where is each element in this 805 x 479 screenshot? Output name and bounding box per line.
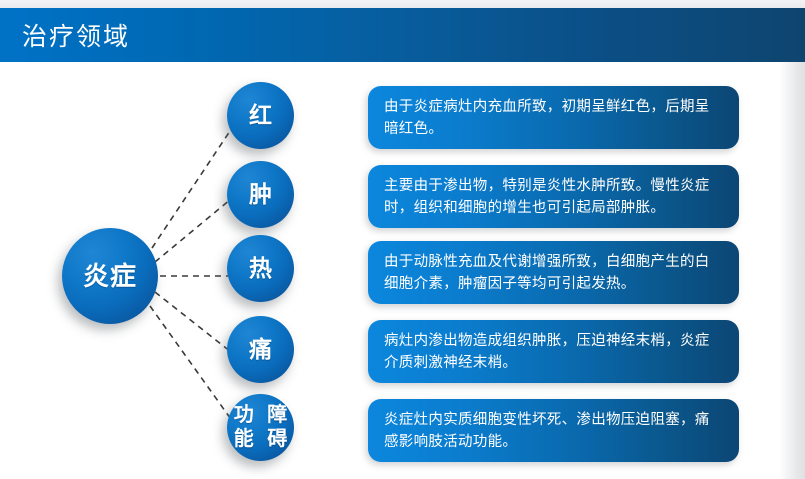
spoke-node-pain[interactable]: 痛 xyxy=(227,316,294,383)
spoke-node-red[interactable]: 红 xyxy=(227,82,294,149)
spoke-node-swelling[interactable]: 肿 xyxy=(227,161,294,228)
description-box-pain: 病灶内渗出物造成组织肿胀，压迫神经末梢，炎症介质刺激神经末梢。 xyxy=(368,320,739,383)
description-box-heat: 由于动脉性充血及代谢增强所致，白细胞产生的白细胞介素，肿瘤因子等均可引起发热。 xyxy=(368,241,739,304)
connector-line-3 xyxy=(155,292,231,352)
connector-line-1 xyxy=(155,199,231,262)
spoke-node-dysfunction-line1: 功能 xyxy=(227,404,261,451)
description-box-swelling: 主要由于渗出物，特别是炎性水肿所致。慢性炎症时，组织和细胞的增生也可引起局部肿胀… xyxy=(368,165,739,228)
spoke-node-dysfunction[interactable]: 功能 障碍 xyxy=(227,394,294,461)
spoke-node-dysfunction-line2: 障碍 xyxy=(261,404,295,451)
description-box-red: 由于炎症病灶内充血所致，初期呈鲜红色，后期呈暗红色。 xyxy=(368,86,739,149)
connector-line-4 xyxy=(150,306,233,422)
connector-line-0 xyxy=(152,128,232,248)
spoke-node-heat[interactable]: 热 xyxy=(227,235,294,302)
center-node-inflammation[interactable]: 炎症 xyxy=(62,228,158,324)
slide-canvas: 治疗领域 炎症 红 肿 热 痛 功能 障碍 由于炎症病灶内充血所致，初期呈鲜红色… xyxy=(0,0,805,479)
description-box-dysfunction: 炎症灶内实质细胞变性坏死、渗出物压迫阻塞，痛感影响肢活动功能。 xyxy=(368,399,739,462)
